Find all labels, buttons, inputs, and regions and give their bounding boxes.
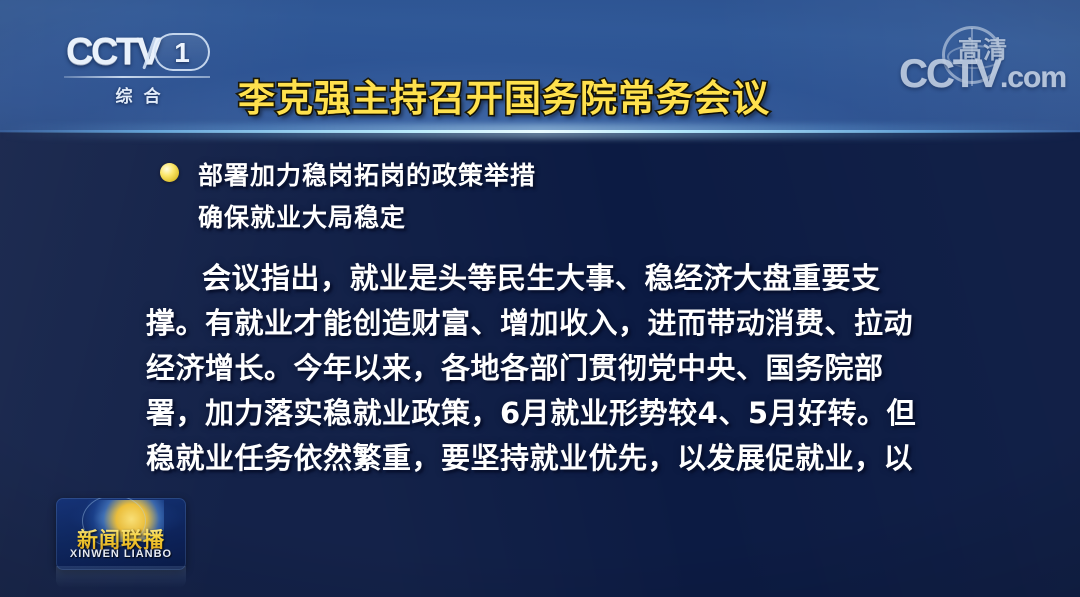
cctv-com-brand: CCTV bbox=[899, 52, 1000, 96]
body-line: 撑。有就业才能创造财富、增加收入，进而带动消费、拉动 bbox=[146, 301, 938, 346]
bullet-lines: 部署加力稳岗拓岗的政策举措 确保就业大局稳定 bbox=[198, 155, 960, 239]
cctv-logo-underline bbox=[64, 76, 210, 78]
channel-subtitle-label: 综合 bbox=[62, 82, 214, 107]
program-name-en: XINWEN LIANBO bbox=[56, 548, 186, 560]
tv-broadcast-screen: CCTV 1 综合 李克强主持召开国务院常务会议 高清 CCTV.com 部署加… bbox=[0, 0, 1080, 597]
bullet-line: 部署加力稳岗拓岗的政策举措 bbox=[198, 155, 960, 197]
body-line: 稳就业任务依然繁重，要坚持就业优先，以发展促就业，以 bbox=[146, 436, 938, 481]
cctv-com-watermark: 高清 CCTV.com bbox=[848, 26, 1066, 102]
channel-number-label: 1 bbox=[156, 34, 208, 72]
headline-title: 李克强主持召开国务院常务会议 bbox=[238, 68, 770, 122]
body-line: 署，加力落实稳就业政策，6月就业形势较4、5月好转。但 bbox=[146, 391, 938, 436]
bullet-summary-block: 部署加力稳岗拓岗的政策举措 确保就业大局稳定 bbox=[160, 155, 960, 239]
body-paragraph: 会议指出，就业是头等民生大事、稳经济大盘重要支 撑。有就业才能创造财富、增加收入… bbox=[146, 256, 938, 481]
bullet-line: 确保就业大局稳定 bbox=[198, 197, 960, 239]
body-line: 经济增长。今年以来，各地各部门贯彻党中央、国务院部 bbox=[146, 346, 938, 391]
yellow-dot-bullet-icon bbox=[160, 163, 179, 182]
xinwen-lianbo-program-logo: 新闻联播 XINWEN LIANBO bbox=[56, 498, 186, 570]
cctv1-logo-cluster: CCTV 1 bbox=[62, 34, 214, 78]
cctv1-channel-logo: CCTV 1 综合 bbox=[62, 34, 214, 106]
cctv-com-domain: .com bbox=[1000, 61, 1066, 94]
body-line: 会议指出，就业是头等民生大事、稳经济大盘重要支 bbox=[146, 256, 938, 301]
cctv-com-wordmark: CCTV.com bbox=[899, 52, 1066, 97]
channel-number-badge: 1 bbox=[154, 33, 210, 71]
